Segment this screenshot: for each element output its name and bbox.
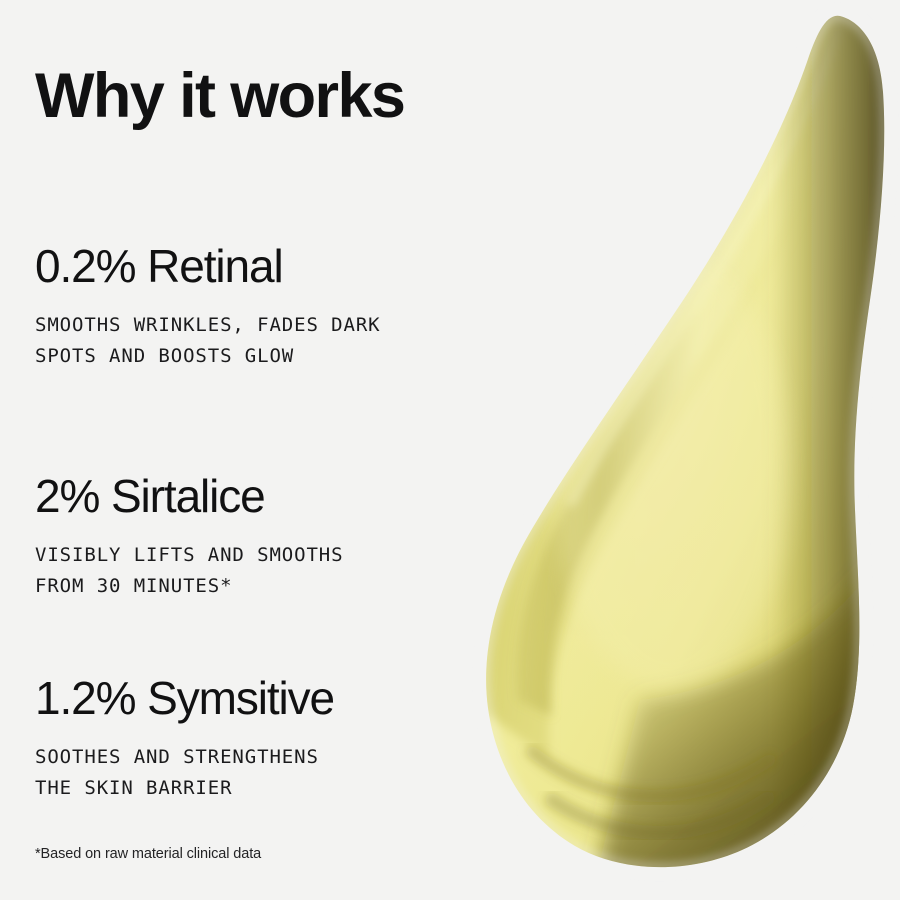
footnote-disclaimer: *Based on raw material clinical data bbox=[35, 846, 261, 862]
ingredient-heading: 0.2% Retinal bbox=[35, 240, 515, 292]
content-column: Why it works 0.2% Retinal SMOOTHS WRINKL… bbox=[0, 0, 520, 900]
product-benefits-graphic: Why it works 0.2% Retinal SMOOTHS WRINKL… bbox=[0, 0, 900, 900]
ingredient-description: SMOOTHS WRINKLES, FADES DARK SPOTS AND B… bbox=[35, 310, 515, 372]
ingredient-description: VISIBLY LIFTS AND SMOOTHS FROM 30 MINUTE… bbox=[35, 540, 515, 602]
ingredient-description: SOOTHES AND STRENGTHENS THE SKIN BARRIER bbox=[35, 742, 515, 804]
ingredient-block-sirtalice: 2% Sirtalice VISIBLY LIFTS AND SMOOTHS F… bbox=[35, 470, 515, 602]
page-title: Why it works bbox=[35, 63, 404, 129]
ingredient-heading: 2% Sirtalice bbox=[35, 470, 515, 522]
ingredient-heading: 1.2% Symsitive bbox=[35, 672, 515, 724]
ingredient-block-symsitive: 1.2% Symsitive SOOTHES AND STRENGTHENS T… bbox=[35, 672, 515, 804]
ingredient-block-retinal: 0.2% Retinal SMOOTHS WRINKLES, FADES DAR… bbox=[35, 240, 515, 372]
